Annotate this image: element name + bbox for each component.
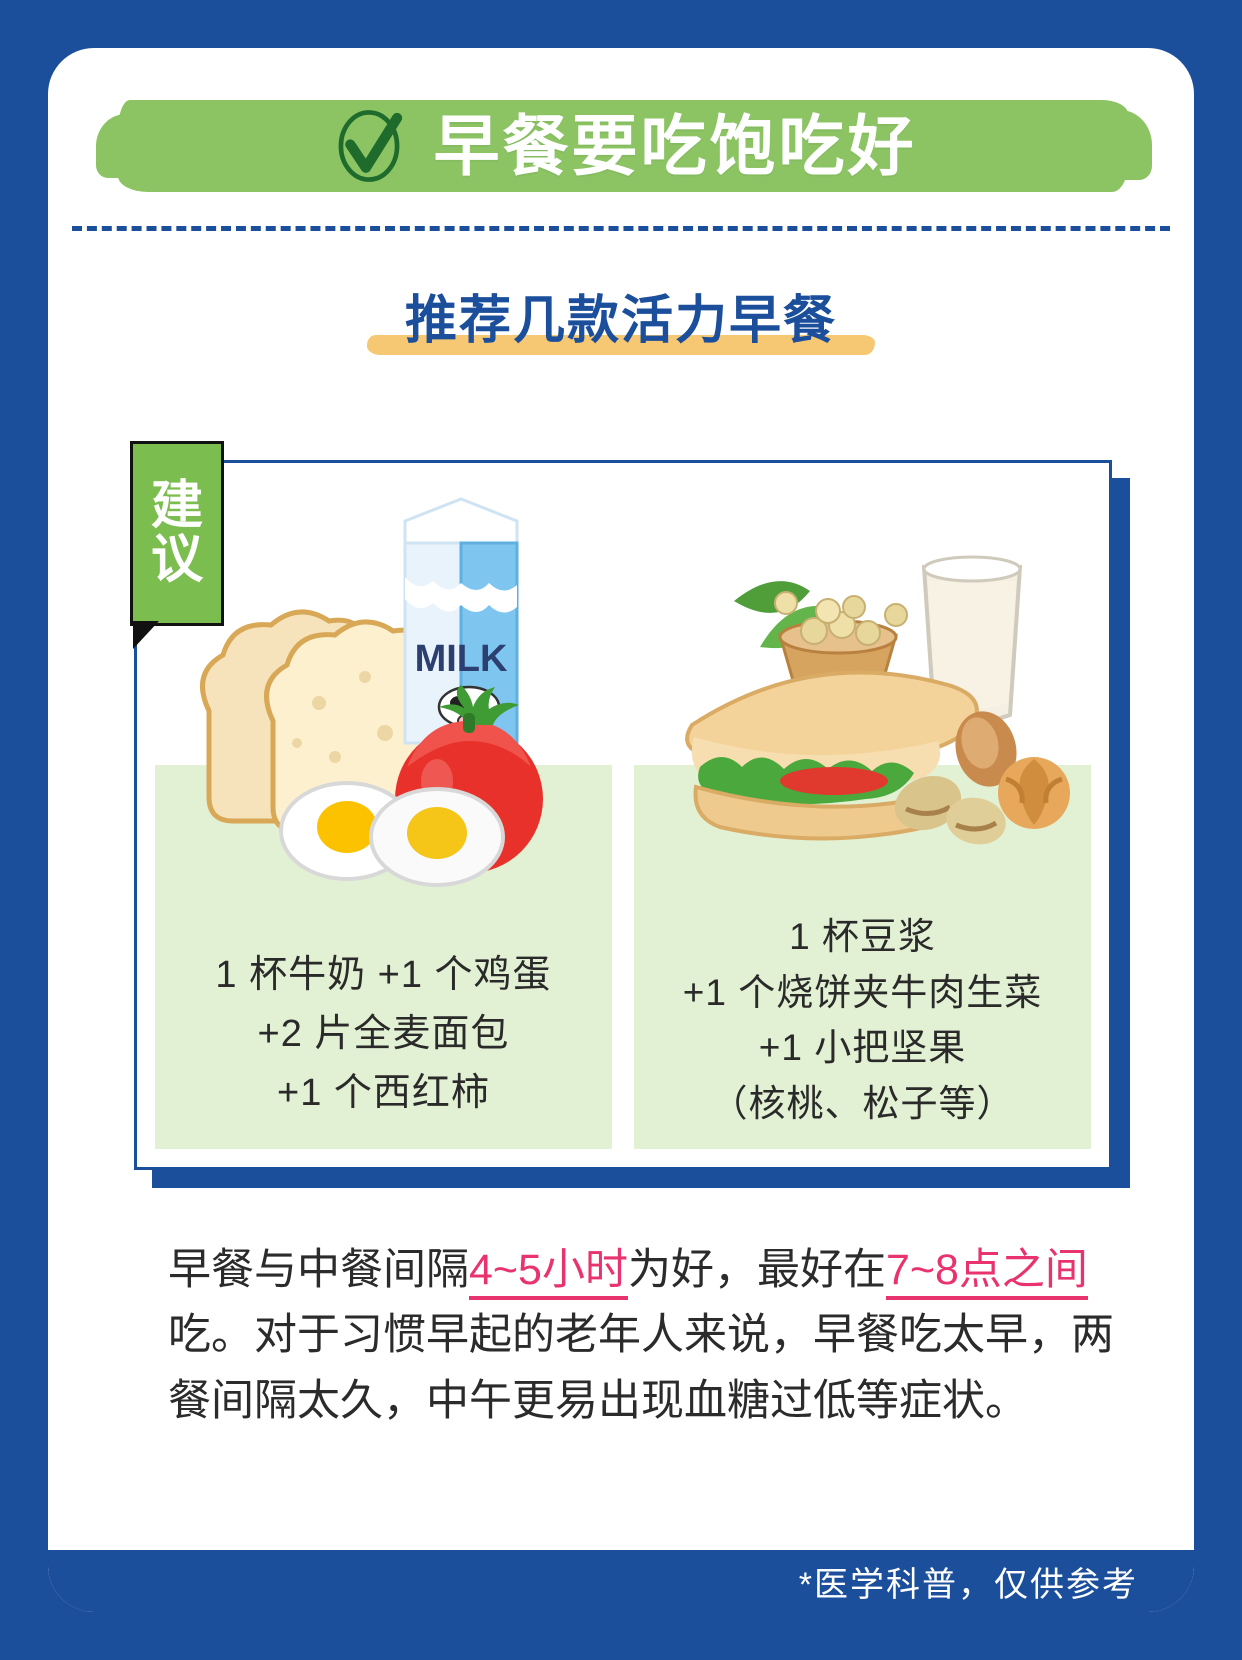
svg-text:MILK: MILK bbox=[414, 638, 507, 680]
card-left-line-3: +1 个西红柿 bbox=[155, 1064, 612, 1123]
dashed-divider bbox=[72, 226, 1170, 231]
disclaimer-text: *医学科普，仅供参考 bbox=[799, 1557, 1138, 1606]
title-banner: 早餐要吃饱吃好 bbox=[118, 92, 1128, 200]
paragraph-segment-3: 吃。对于习惯早起的老年人来说，早餐吃太早，两餐间隔太久，中午更易出现血糖过低等症… bbox=[168, 1311, 1114, 1424]
check-circle-icon bbox=[330, 107, 408, 185]
tag-char-1: 建 bbox=[151, 480, 203, 534]
card-left-line-1: 1 杯牛奶 +1 个鸡蛋 bbox=[155, 946, 612, 1005]
breakfast-card-right-text: 1 杯豆浆 +1 个烧饼夹牛肉生菜 +1 小把坚果 （核桃、松子等） bbox=[634, 909, 1091, 1131]
card-right-line-3: +1 小把坚果 bbox=[634, 1020, 1091, 1076]
subtitle-section: 推荐几款活力早餐 bbox=[48, 260, 1194, 370]
paragraph-highlight-2: 7~8点之间 bbox=[886, 1246, 1088, 1300]
card-left-line-2: +2 片全麦面包 bbox=[155, 1005, 612, 1064]
breakfast-card-right: 1 杯豆浆 +1 个烧饼夹牛肉生菜 +1 小把坚果 （核桃、松子等） bbox=[634, 481, 1091, 1149]
soymilk-sandwich-nuts-illustration bbox=[634, 481, 1091, 881]
subtitle-text: 推荐几款活力早餐 bbox=[405, 292, 837, 350]
suggestion-tag: 建 议 bbox=[130, 441, 224, 626]
breakfast-card-left-text: 1 杯牛奶 +1 个鸡蛋 +2 片全麦面包 +1 个西红柿 bbox=[155, 946, 612, 1123]
paragraph-segment-2: 为好，最好在 bbox=[628, 1246, 886, 1294]
footer-bar: *医学科普，仅供参考 bbox=[48, 1550, 1194, 1612]
paragraph-segment-1: 早餐与中餐间隔 bbox=[168, 1246, 469, 1294]
card-right-line-2: +1 个烧饼夹牛肉生菜 bbox=[634, 965, 1091, 1021]
poster-card: 早餐要吃饱吃好 推荐几款活力早餐 建 议 bbox=[48, 48, 1194, 1612]
body-paragraph: 早餐与中餐间隔4~5小时为好，最好在7~8点之间吃。对于习惯早起的老年人来说，早… bbox=[168, 1238, 1118, 1434]
paragraph-highlight-1: 4~5小时 bbox=[469, 1246, 628, 1300]
page-title: 早餐要吃饱吃好 bbox=[434, 113, 917, 179]
outer-blue-frame: 早餐要吃饱吃好 推荐几款活力早餐 建 议 bbox=[0, 0, 1242, 1660]
tag-char-2: 议 bbox=[151, 534, 203, 588]
card-right-line-1: 1 杯豆浆 bbox=[634, 909, 1091, 965]
tag-tail-triangle bbox=[133, 621, 159, 649]
card-right-line-4: （核桃、松子等） bbox=[634, 1076, 1091, 1132]
card-frame: MILK bbox=[134, 460, 1112, 1170]
